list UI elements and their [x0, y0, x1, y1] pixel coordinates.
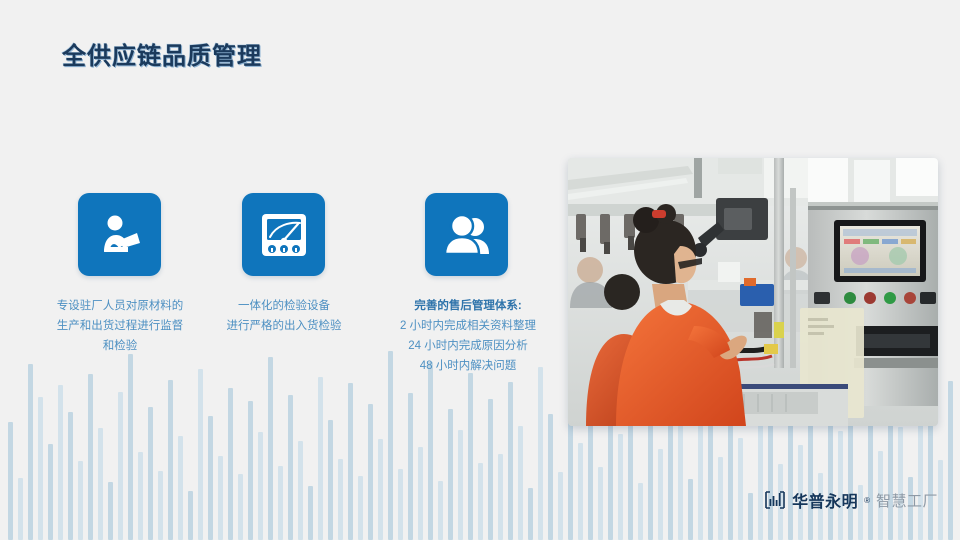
decorative-bar: [538, 367, 543, 540]
feature-caption-2: 一体化的检验设备 进行严格的出入货检验: [200, 296, 368, 336]
decorative-bar: [88, 374, 93, 540]
feature-caption-1: 专设驻厂人员对原材料的 生产和出货过程进行监督 和检验: [36, 296, 204, 356]
decorative-bar: [58, 385, 63, 540]
decorative-bar: [938, 460, 943, 540]
feature-caption-3: 完善的售后管理体系: 2 小时内完成相关资料整理 24 小时内完成原因分析 48…: [383, 296, 553, 376]
decorative-bar: [158, 471, 163, 540]
decorative-bar: [68, 412, 73, 540]
company-logo: 华普永明 ® 智慧工厂: [764, 488, 938, 512]
decorative-bar: [388, 351, 393, 540]
decorative-bar: [838, 431, 843, 540]
decorative-bar: [318, 377, 323, 540]
decorative-bar: [828, 408, 833, 540]
person-inspector-icon[interactable]: [78, 193, 161, 276]
feature-column-1: 专设驻厂人员对原材料的 生产和出货过程进行监督 和检验: [36, 193, 204, 356]
decorative-bar: [498, 454, 503, 540]
decorative-bar: [38, 397, 43, 540]
decorative-bar: [108, 482, 113, 540]
decorative-bar: [708, 411, 713, 540]
decorative-bar: [928, 413, 933, 540]
decorative-bar: [78, 461, 83, 540]
decorative-bar: [468, 373, 473, 540]
caption-line: 2 小时内完成相关资料整理: [383, 316, 553, 336]
decorative-bar: [298, 441, 303, 540]
feature-column-3: 完善的售后管理体系: 2 小时内完成相关资料整理 24 小时内完成原因分析 48…: [383, 193, 553, 376]
huapu-bars-logo-mark: [764, 490, 786, 510]
decorative-bar: [348, 383, 353, 540]
decorative-bar: [128, 354, 133, 540]
logo-suffix-text: 智慧工厂: [876, 490, 938, 511]
decorative-bar: [488, 399, 493, 540]
decorative-bar: [528, 488, 533, 540]
decorative-bar: [948, 381, 953, 540]
caption-line: 一体化的检验设备: [200, 296, 368, 316]
decorative-bar: [638, 483, 643, 540]
caption-line: 48 小时内解决问题: [383, 356, 553, 376]
decorative-bar: [358, 476, 363, 540]
decorative-bar: [368, 404, 373, 540]
decorative-bar: [408, 393, 413, 540]
decorative-bar: [148, 407, 153, 540]
caption-line: 生产和出货过程进行监督: [36, 316, 204, 336]
decorative-bar: [228, 388, 233, 540]
decorative-bar: [168, 380, 173, 540]
decorative-bar: [238, 474, 243, 540]
caption-line: 24 小时内完成原因分析: [383, 336, 553, 356]
decorative-bar: [138, 452, 143, 540]
decorative-bar: [688, 479, 693, 540]
decorative-bar: [268, 357, 273, 540]
decorative-bar: [418, 447, 423, 540]
decorative-bar: [118, 392, 123, 540]
decorative-bar: [438, 481, 443, 540]
logo-brand-text: 华普永明: [792, 488, 858, 512]
decorative-bar: [378, 439, 383, 540]
two-people-icon[interactable]: [425, 193, 508, 276]
decorative-bar: [308, 486, 313, 540]
decorative-bar: [428, 362, 433, 540]
logo-trademark: ®: [864, 496, 870, 505]
decorative-bar: [458, 430, 463, 540]
decorative-bar: [178, 436, 183, 540]
decorative-bar: [258, 432, 263, 540]
decorative-bar: [558, 472, 563, 540]
decorative-bar: [218, 456, 223, 540]
decorative-bar: [278, 466, 283, 540]
decorative-bar: [328, 420, 333, 540]
decorative-bar: [28, 364, 33, 540]
caption-line: 和检验: [36, 336, 204, 356]
decorative-bar: [398, 469, 403, 540]
decorative-bar: [748, 493, 753, 540]
decorative-bar: [508, 382, 513, 540]
decorative-bar: [288, 395, 293, 540]
decorative-bar: [198, 369, 203, 540]
decorative-bar: [8, 422, 13, 540]
decorative-bar: [578, 443, 583, 540]
slide-canvas: 全供应链品质管理 专设驻厂人员对原材料的 生产和出货过程进行监督 和检验: [0, 0, 960, 540]
decorative-bar: [678, 423, 683, 540]
decorative-bar: [598, 467, 603, 540]
decorative-bar: [18, 478, 23, 540]
page-title: 全供应链品质管理: [62, 36, 262, 71]
decorative-bar: [768, 418, 773, 540]
decorative-bar: [98, 428, 103, 540]
decorative-bar: [718, 457, 723, 540]
decorative-bar: [548, 414, 553, 540]
feature-column-2: 一体化的检验设备 进行严格的出入货检验: [200, 193, 368, 336]
decorative-bar: [48, 444, 53, 540]
decorative-bar: [518, 426, 523, 540]
decorative-bar: [448, 409, 453, 540]
caption-heading: 完善的售后管理体系:: [383, 296, 553, 316]
decorative-bar: [478, 463, 483, 540]
decorative-bar: [618, 434, 623, 540]
decorative-bar: [248, 401, 253, 540]
gauge-meter-icon[interactable]: [242, 193, 325, 276]
decorative-bar: [738, 438, 743, 540]
decorative-bar: [898, 427, 903, 540]
decorative-bar: [188, 491, 193, 540]
caption-line: 专设驻厂人员对原材料的: [36, 296, 204, 316]
caption-line: 进行严格的出入货检验: [200, 316, 368, 336]
decorative-bar: [658, 449, 663, 540]
decorative-bar: [338, 459, 343, 540]
factory-workers-photo: [568, 158, 938, 426]
decorative-bar: [208, 416, 213, 540]
